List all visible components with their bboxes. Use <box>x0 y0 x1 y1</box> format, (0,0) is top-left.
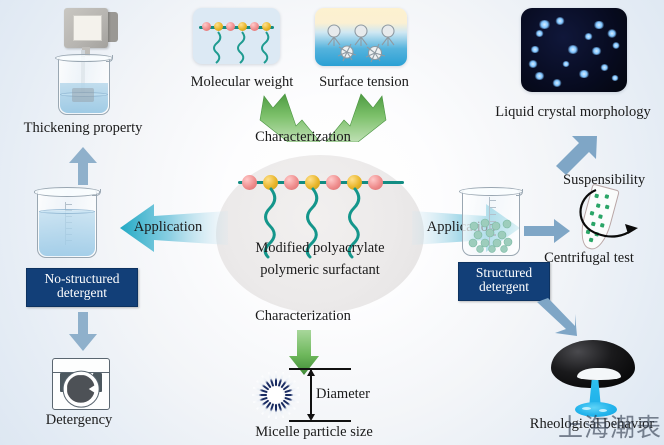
badge-line-2: detergent <box>459 280 549 294</box>
diameter-bottom-rule <box>289 420 351 422</box>
application-left-label: Application <box>134 219 202 236</box>
thickening-up-arrow <box>66 146 100 186</box>
thickening-property-label: Thickening property <box>24 120 143 137</box>
detergency-down-arrow <box>66 310 100 352</box>
surface-tension-icon <box>315 8 407 66</box>
molecular-weight-icon <box>193 8 280 64</box>
centrifuge-right-arrow <box>524 218 572 244</box>
graphical-abstract-canvas: Molecular weight Surface tension <box>0 0 664 445</box>
thickening-beaker <box>58 53 110 115</box>
viscometer-head-icon <box>62 6 124 52</box>
characterization-top-label: Characterization <box>255 129 351 146</box>
center-hub <box>216 155 424 313</box>
center-title-line-2: polymeric surfactant <box>260 262 380 279</box>
center-title-line-1: Modified polyacrylate <box>255 240 384 257</box>
washing-machine-icon <box>52 358 110 410</box>
badge-line-2: detergent <box>27 286 137 300</box>
liquid-crystal-micrograph <box>521 8 627 92</box>
no-structured-beaker <box>37 186 97 258</box>
viscometer-rotor <box>72 88 94 102</box>
diameter-label: Diameter <box>316 386 370 403</box>
structured-beaker <box>462 186 520 256</box>
rheological-behavior-label: Rheological behavior <box>530 416 654 433</box>
rotation-arrow-icon <box>568 184 640 246</box>
detergency-label: Detergency <box>46 412 113 429</box>
rheology-down-arrow <box>534 298 578 338</box>
no-structured-detergent-badge: No-structured detergent <box>26 268 138 307</box>
badge-line-1: Structured <box>459 266 549 280</box>
diameter-top-rule <box>289 368 351 370</box>
structured-detergent-badge: Structured detergent <box>458 262 550 301</box>
micelle-particle-size-label: Micelle particle size <box>255 424 373 441</box>
rheological-behavior-icon <box>547 340 659 418</box>
suspended-particles <box>462 186 520 256</box>
micelle-icon <box>248 368 302 422</box>
centrifugal-test-label: Centrifugal test <box>544 250 634 267</box>
badge-line-1: No-structured <box>27 272 137 286</box>
liquid-crystal-label: Liquid crystal morphology <box>495 104 650 121</box>
characterization-bottom-label: Characterization <box>255 308 351 325</box>
